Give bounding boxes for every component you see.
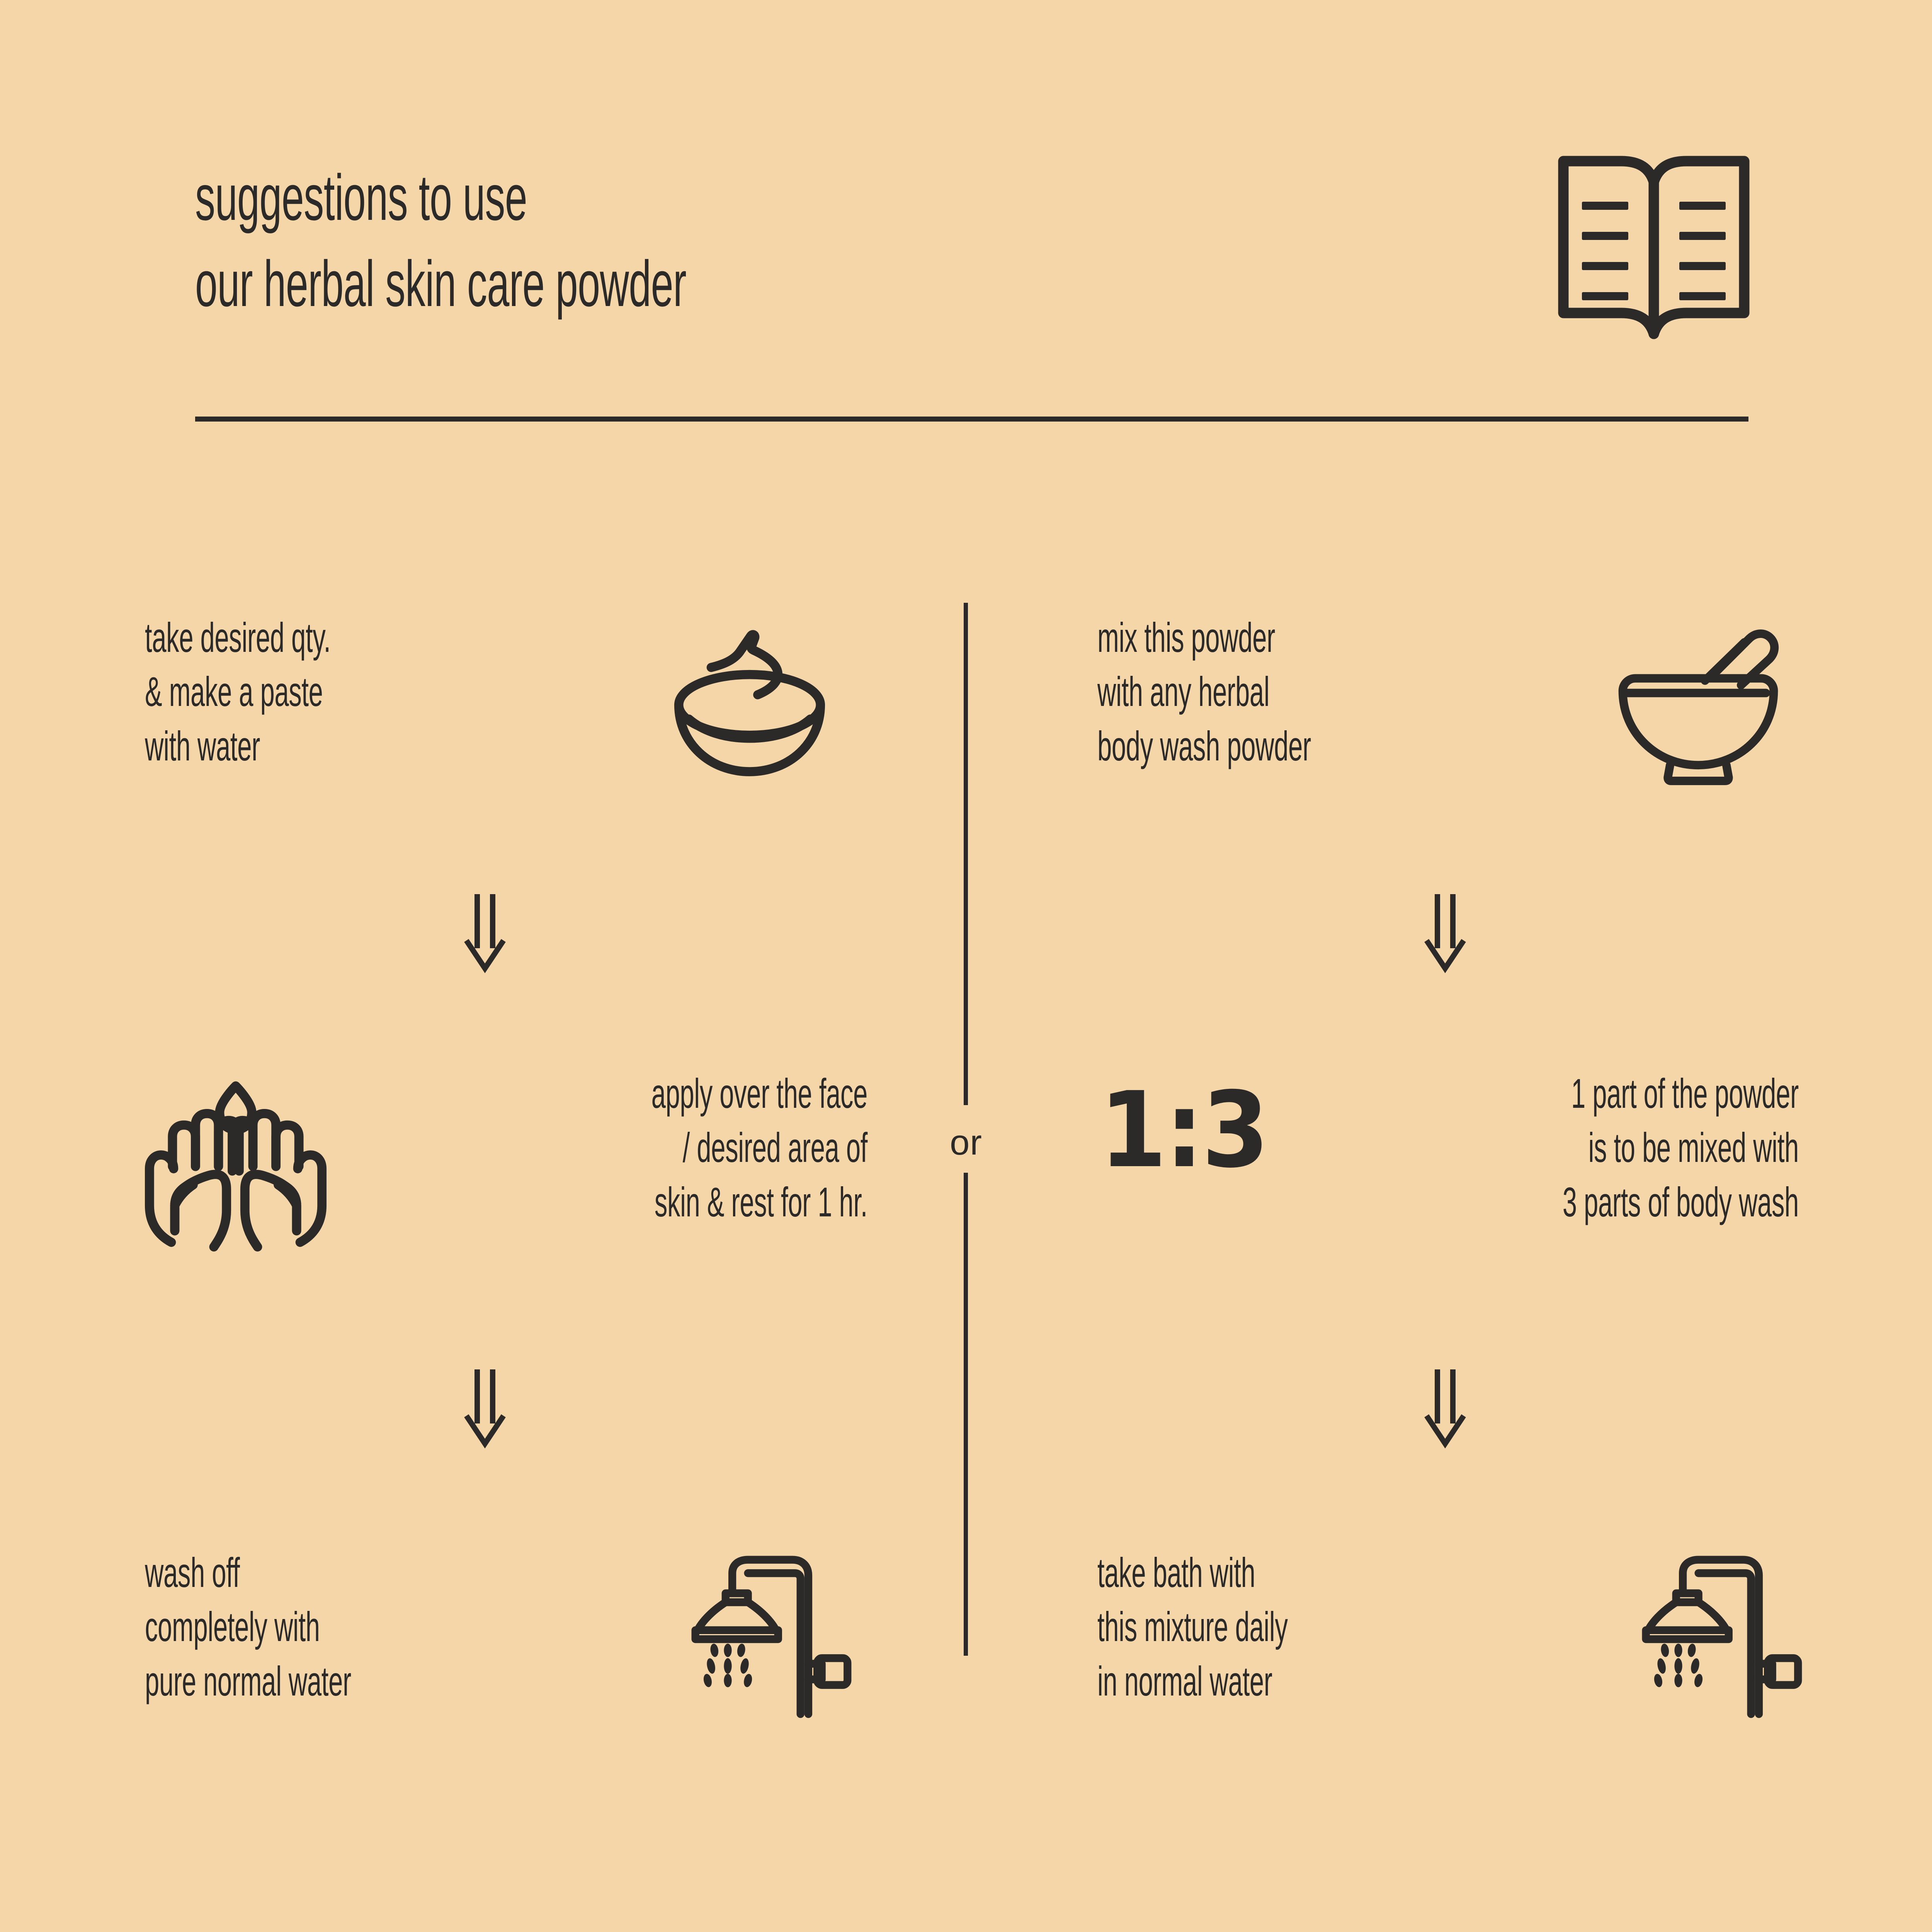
shower-icon bbox=[1640, 1555, 1803, 1714]
mortar-and-pestle-icon bbox=[1617, 616, 1779, 782]
right-step-3-text: take bath with this mixture daily in nor… bbox=[1097, 1546, 1619, 1708]
left-step-1-line-3: with water bbox=[145, 719, 456, 773]
double-down-arrow-icon bbox=[1422, 1368, 1468, 1449]
right-step-2-line-2: is to be mixed with bbox=[684, 1121, 1799, 1175]
right-step-1-line-1: mix this powder bbox=[1097, 611, 1433, 665]
shower-icon bbox=[690, 1555, 852, 1714]
right-step-3-line-2: this mixture daily bbox=[1097, 1600, 1421, 1654]
page-title-line-1: suggestions to use bbox=[195, 155, 1158, 241]
page-title-line-2: our herbal skin care powder bbox=[195, 241, 1158, 327]
right-step-2-text: 1 part of the powder is to be mixed with… bbox=[0, 1066, 1799, 1229]
right-step-2-line-3: 3 parts of body wash bbox=[684, 1175, 1799, 1229]
column-divider-bottom bbox=[964, 1173, 968, 1656]
left-step-3-line-1: wash off bbox=[145, 1546, 468, 1600]
right-step-1-line-3: body wash powder bbox=[1097, 719, 1433, 773]
double-down-arrow-icon bbox=[1422, 893, 1468, 974]
left-step-1-line-2: & make a paste bbox=[145, 665, 456, 719]
paste-bowl-icon bbox=[665, 626, 835, 781]
left-step-1-text: take desired qty. & make a paste with wa… bbox=[145, 611, 647, 773]
title-divider-rule bbox=[195, 417, 1748, 422]
left-step-3-line-2: completely with bbox=[145, 1600, 468, 1654]
right-step-1-text: mix this powder with any herbal body was… bbox=[1097, 611, 1638, 773]
double-down-arrow-icon bbox=[462, 893, 508, 974]
left-step-3-text: wash off completely with pure normal wat… bbox=[145, 1546, 667, 1708]
column-divider-top bbox=[964, 603, 968, 1105]
page-title: suggestions to use our herbal skin care … bbox=[195, 155, 1748, 327]
right-step-1-line-2: with any herbal bbox=[1097, 665, 1433, 719]
double-down-arrow-icon bbox=[462, 1368, 508, 1449]
left-step-1-line-1: take desired qty. bbox=[145, 611, 456, 665]
open-book-icon bbox=[1549, 151, 1758, 340]
right-step-3-line-1: take bath with bbox=[1097, 1546, 1421, 1600]
infographic-poster: suggestions to use our herbal skin care … bbox=[0, 0, 1932, 1932]
right-step-3-line-3: in normal water bbox=[1097, 1654, 1421, 1708]
left-step-3-line-3: pure normal water bbox=[145, 1654, 468, 1708]
header: suggestions to use our herbal skin care … bbox=[195, 155, 1748, 327]
right-step-2-line-1: 1 part of the powder bbox=[684, 1066, 1799, 1121]
